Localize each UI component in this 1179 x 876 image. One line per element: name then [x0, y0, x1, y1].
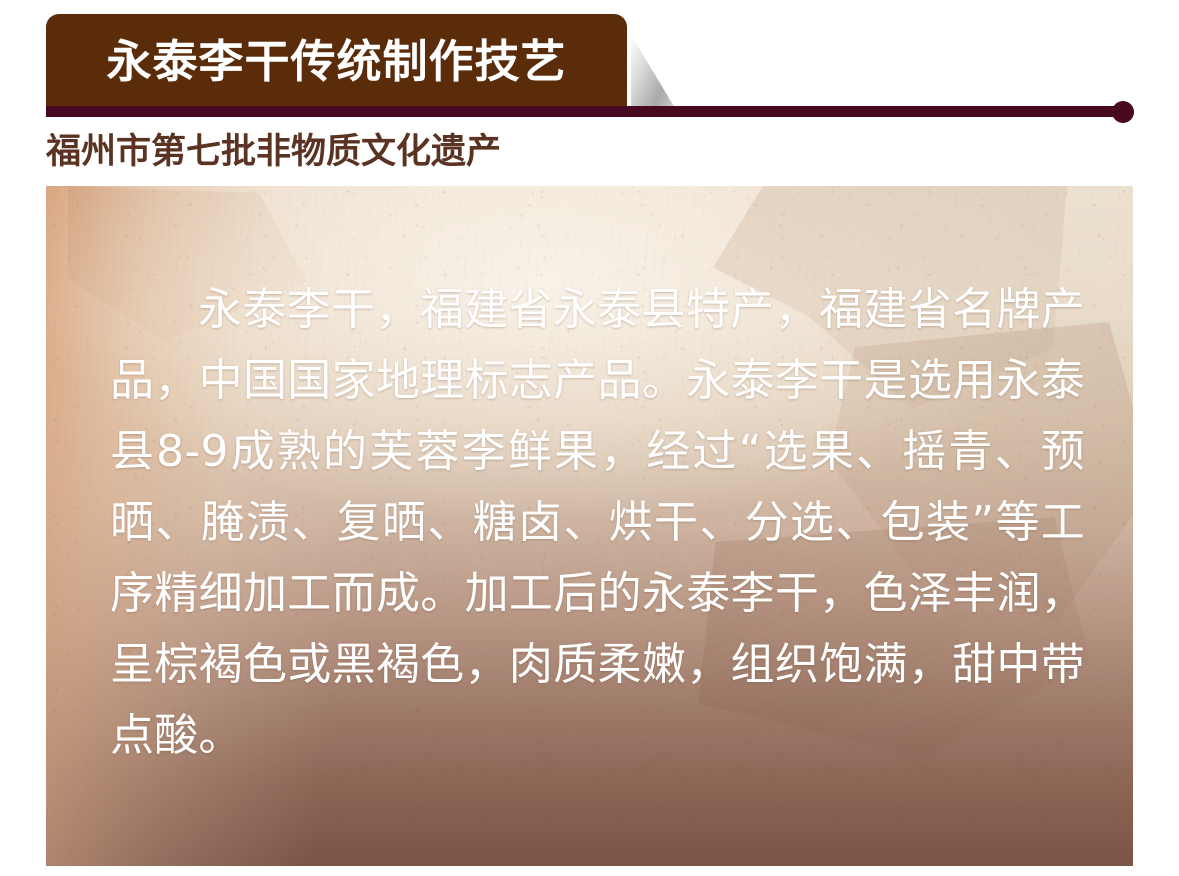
page-subtitle: 福州市第七批非物质文化遗产 — [46, 131, 501, 175]
poster-page: 永泰李干传统制作技艺 福州市第七批非物质文化遗产 永泰李干，福建省永泰县特产，福… — [0, 0, 1179, 876]
banner-fold-triangle-icon — [631, 35, 675, 108]
article-paragraph: 永泰李干，福建省永泰县特产，福建省名牌产品，中国国家地理标志产品。永泰李干是选用… — [110, 274, 1085, 771]
accent-divider-rule — [46, 106, 1123, 117]
article-body: 永泰李干，福建省永泰县特产，福建省名牌产品，中国国家地理标志产品。永泰李干是选用… — [110, 274, 1085, 771]
article-panel: 永泰李干，福建省永泰县特产，福建省名牌产品，中国国家地理标志产品。永泰李干是选用… — [46, 186, 1133, 866]
header-banner-area: 永泰李干传统制作技艺 — [0, 0, 1179, 128]
title-banner: 永泰李干传统制作技艺 — [46, 14, 627, 108]
accent-dot-icon — [1112, 101, 1134, 123]
page-title: 永泰李干传统制作技艺 — [106, 39, 566, 84]
